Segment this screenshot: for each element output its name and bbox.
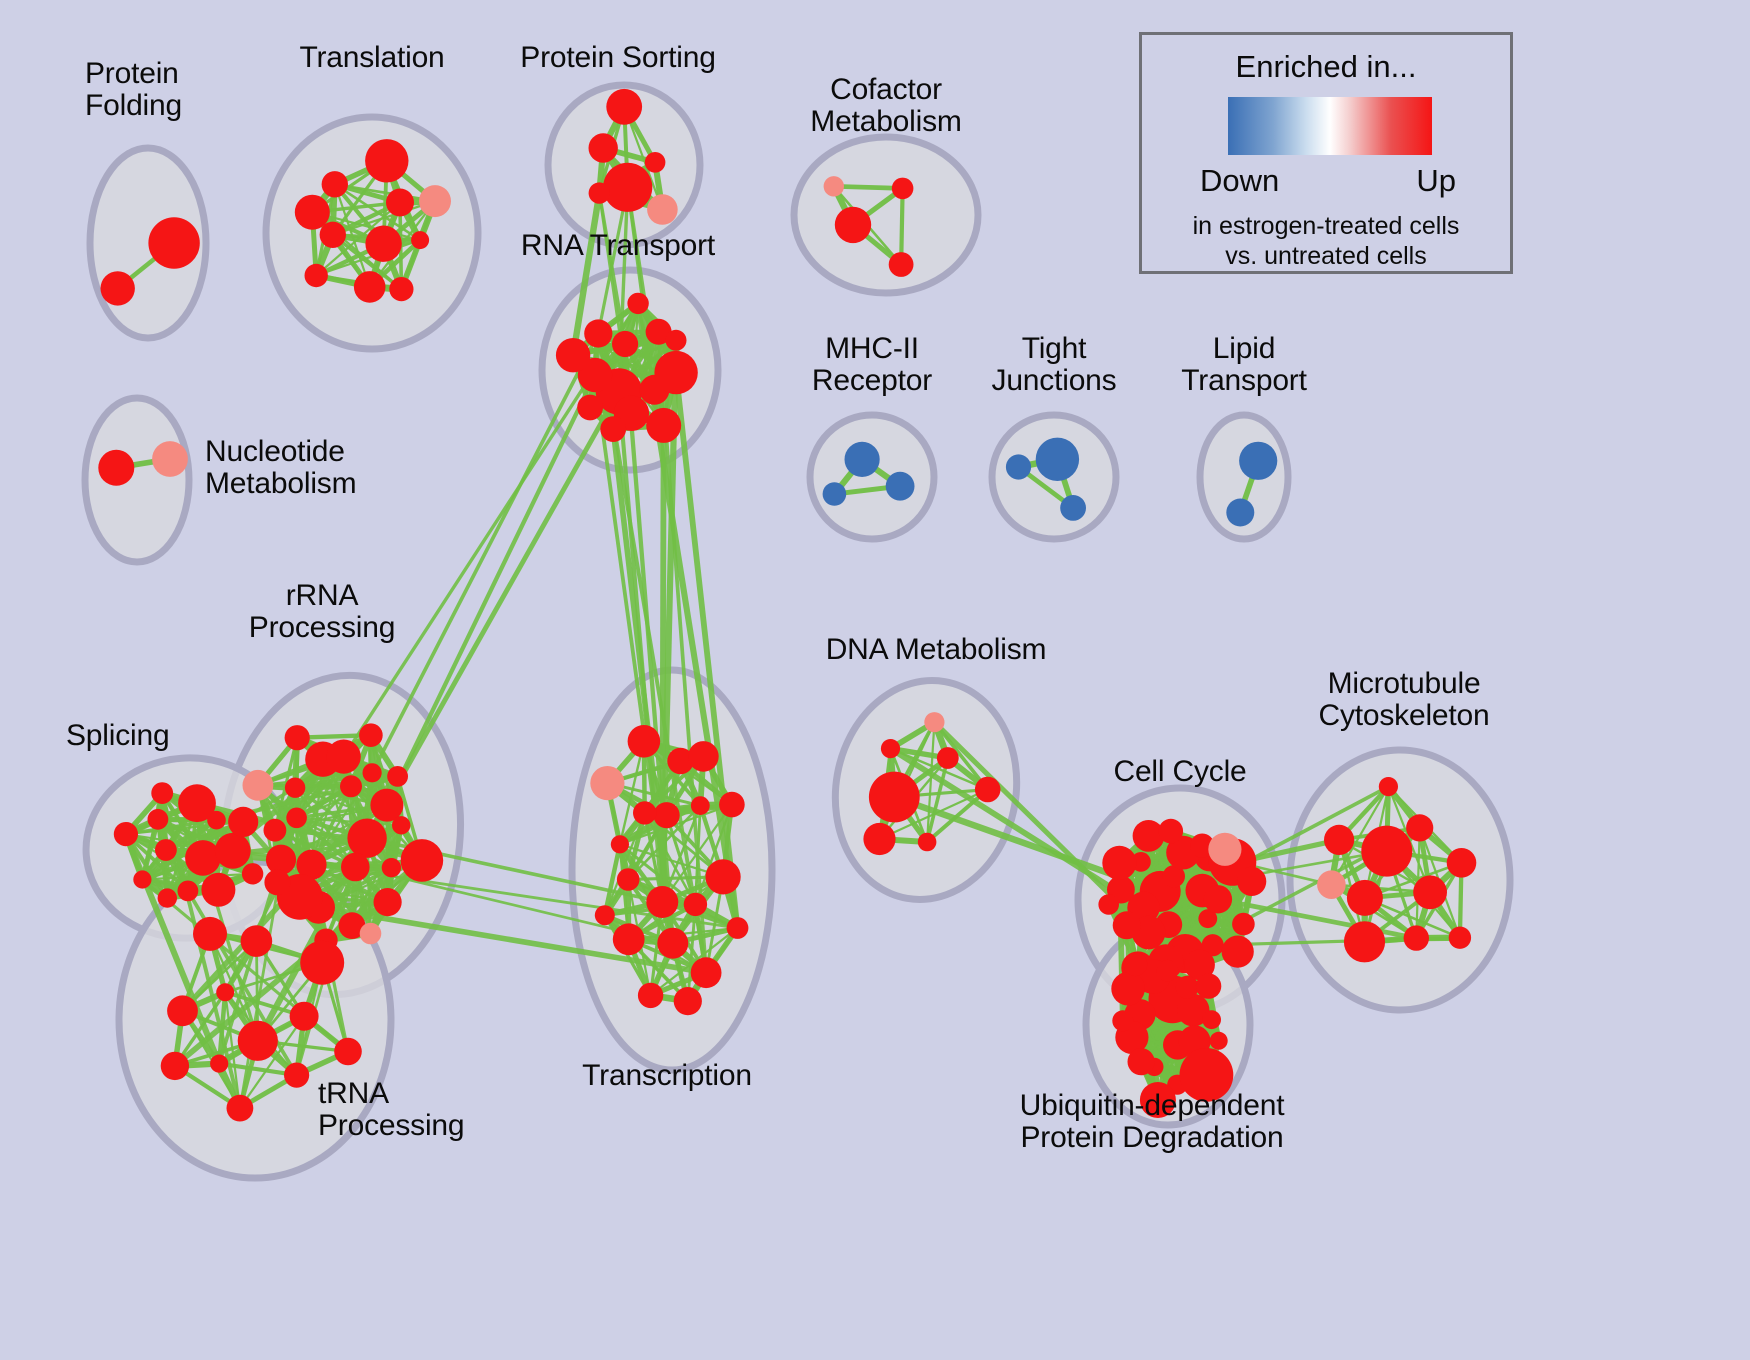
graph-node [285, 725, 310, 750]
cluster-label-rrna-processing: rRNA Processing [249, 580, 395, 644]
graph-node [1102, 846, 1136, 880]
cluster-label-cell-cycle: Cell Cycle [1113, 756, 1246, 788]
graph-node [1361, 826, 1412, 877]
cluster-hull [572, 670, 772, 1070]
legend-panel: Enriched in... Down Up in estrogen-treat… [1139, 32, 1513, 274]
cluster-label-trna-processing: tRNA Processing [318, 1078, 464, 1142]
graph-node [589, 133, 618, 162]
graph-node [363, 763, 382, 782]
graph-node [975, 777, 1001, 803]
graph-node [612, 331, 638, 357]
graph-node [148, 809, 169, 830]
cluster-label-cofactor-metabolism: Cofactor Metabolism [810, 74, 961, 138]
graph-node [937, 747, 959, 769]
graph-node [691, 957, 722, 988]
graph-node [628, 725, 661, 758]
graph-node [646, 886, 678, 918]
graph-node [727, 917, 749, 939]
graph-node [918, 833, 937, 852]
graph-node [264, 869, 290, 895]
graph-node [863, 823, 895, 855]
graph-node [691, 796, 710, 815]
graph-node [365, 139, 408, 182]
cluster-label-transcription: Transcription [582, 1060, 752, 1092]
graph-node [178, 881, 199, 902]
graph-node [1157, 960, 1179, 982]
cluster-label-lipid-transport: Lipid Transport [1181, 333, 1306, 397]
graph-node [924, 712, 944, 732]
graph-node [152, 441, 188, 477]
graph-node [227, 1095, 254, 1122]
graph-node [1344, 921, 1385, 962]
graph-node [1196, 973, 1221, 998]
graph-node [892, 178, 914, 200]
graph-node [354, 271, 386, 303]
graph-node [1210, 1032, 1228, 1050]
graph-node [881, 739, 900, 758]
graph-node [617, 868, 640, 891]
legend-high-label: Up [1416, 163, 1456, 199]
graph-node [654, 802, 680, 828]
graph-node [389, 277, 413, 301]
graph-node [638, 983, 663, 1008]
cluster-label-splicing: Splicing [66, 720, 169, 752]
graph-node [290, 1002, 319, 1031]
graph-node [645, 152, 666, 173]
graph-node [295, 195, 330, 230]
graph-node [584, 319, 612, 347]
graph-node [1111, 972, 1145, 1006]
graph-node [1226, 499, 1254, 527]
cluster-hull [794, 137, 978, 293]
graph-node [374, 888, 402, 916]
graph-node [684, 893, 707, 916]
graph-node [1347, 880, 1383, 916]
graph-node [185, 840, 221, 876]
graph-node [305, 264, 328, 287]
graph-node [158, 888, 177, 907]
graph-node [1124, 953, 1148, 977]
graph-node [886, 472, 915, 501]
graph-node [1060, 495, 1086, 521]
graph-node [1449, 927, 1471, 949]
cluster-label-microtubule-cytoskeleton: Microtubule Cytoskeleton [1318, 668, 1489, 732]
graph-node [1232, 913, 1255, 936]
graph-node [889, 252, 914, 277]
graph-node [824, 176, 844, 196]
graph-node [1413, 875, 1447, 909]
graph-node [193, 917, 227, 951]
graph-node [216, 983, 234, 1001]
legend-subtitle: in estrogen-treated cells vs. untreated … [1142, 211, 1510, 271]
graph-node [382, 858, 401, 877]
graph-edge [387, 375, 595, 805]
graph-node [1406, 814, 1433, 841]
graph-node [1447, 848, 1477, 878]
graph-node [1113, 911, 1141, 939]
graph-node [327, 740, 361, 774]
graph-node [322, 171, 348, 197]
graph-node [215, 833, 251, 869]
graph-node [666, 330, 687, 351]
graph-node [148, 217, 199, 268]
graph-node [1098, 894, 1119, 915]
graph-node [633, 801, 656, 824]
graph-node [1036, 438, 1079, 481]
graph-node [1204, 885, 1232, 913]
graph-node [228, 807, 258, 837]
graph-node [1324, 825, 1354, 855]
graph-node [1128, 1048, 1155, 1075]
graph-node [577, 395, 603, 421]
graph-node [1222, 936, 1254, 968]
graph-node [869, 772, 920, 823]
graph-node [101, 271, 135, 305]
graph-node [719, 792, 745, 818]
cluster-label-rna-transport: RNA Transport [521, 230, 715, 262]
graph-node [167, 995, 198, 1026]
graph-node [654, 351, 697, 394]
graph-node [300, 941, 344, 985]
cluster-hull [85, 398, 189, 562]
cluster-label-protein-sorting: Protein Sorting [520, 42, 715, 74]
graph-node [341, 853, 370, 882]
graph-node [613, 923, 645, 955]
enrichment-map-figure: Protein Folding Translation Protein Sort… [0, 0, 1750, 1360]
graph-node [392, 816, 410, 834]
graph-node [201, 873, 235, 907]
graph-node [823, 482, 847, 506]
graph-node [1208, 833, 1241, 866]
cluster-label-dna-metabolism: DNA Metabolism [826, 634, 1047, 666]
graph-node [386, 189, 414, 217]
graph-node [1112, 1010, 1133, 1031]
graph-node [845, 442, 880, 477]
graph-node [401, 839, 444, 882]
graph-node [419, 185, 451, 217]
graph-node [387, 766, 408, 787]
cluster-label-mhc-ii-receptor: MHC-II Receptor [812, 333, 932, 397]
graph-node [1237, 867, 1266, 896]
graph-node [334, 1038, 362, 1066]
graph-node [264, 819, 287, 842]
graph-node [155, 839, 177, 861]
cluster-label-tight-junctions: Tight Junctions [992, 333, 1117, 397]
legend-color-bar [1228, 97, 1432, 155]
graph-node [603, 163, 652, 212]
graph-node [606, 89, 642, 125]
graph-node [595, 905, 615, 925]
graph-node [359, 723, 383, 747]
graph-node [589, 182, 610, 203]
graph-node [611, 835, 629, 853]
graph-node [243, 770, 274, 801]
graph-edge [372, 333, 598, 772]
graph-node [647, 194, 678, 225]
graph-node [1239, 442, 1277, 480]
graph-node [1317, 870, 1346, 899]
graph-node [1176, 976, 1199, 999]
graph-node [590, 766, 624, 800]
graph-node [241, 925, 273, 957]
graph-node [284, 1063, 309, 1088]
graph-node [98, 450, 134, 486]
graph-node [1202, 1010, 1221, 1029]
graph-node [1379, 777, 1398, 796]
graph-node [360, 923, 382, 945]
graph-node [365, 226, 401, 262]
cluster-label-protein-folding: Protein Folding [85, 58, 182, 122]
graph-node [178, 784, 216, 822]
graph-node [161, 1052, 189, 1080]
cluster-hull [810, 415, 934, 539]
legend-title: Enriched in... [1142, 49, 1510, 85]
graph-node [706, 859, 741, 894]
graph-node [238, 1021, 278, 1061]
graph-node [674, 987, 702, 1015]
graph-node [688, 741, 719, 772]
cluster-label-nucleotide-metabolism: Nucleotide Metabolism [205, 436, 356, 500]
graph-node [114, 822, 138, 846]
graph-node [347, 819, 386, 858]
graph-node [657, 928, 688, 959]
graph-node [286, 808, 307, 829]
graph-node [285, 778, 305, 798]
graph-node [151, 782, 173, 804]
graph-node [835, 207, 871, 243]
graph-node [1159, 819, 1184, 844]
graph-node [646, 408, 681, 443]
graph-node [242, 863, 263, 884]
graph-node [210, 1055, 228, 1073]
graph-node [600, 416, 626, 442]
graph-node [1404, 925, 1429, 950]
graph-node [627, 293, 648, 314]
graph-node [411, 231, 429, 249]
graph-node [340, 775, 362, 797]
graph-node [556, 338, 590, 372]
cluster-label-ubiquitin-degradation: Ubiquitin-dependent Protein Degradation [1020, 1090, 1285, 1154]
graph-node [133, 870, 151, 888]
legend-low-label: Down [1200, 163, 1279, 199]
cluster-label-translation: Translation [299, 42, 444, 74]
graph-node [1006, 454, 1031, 479]
